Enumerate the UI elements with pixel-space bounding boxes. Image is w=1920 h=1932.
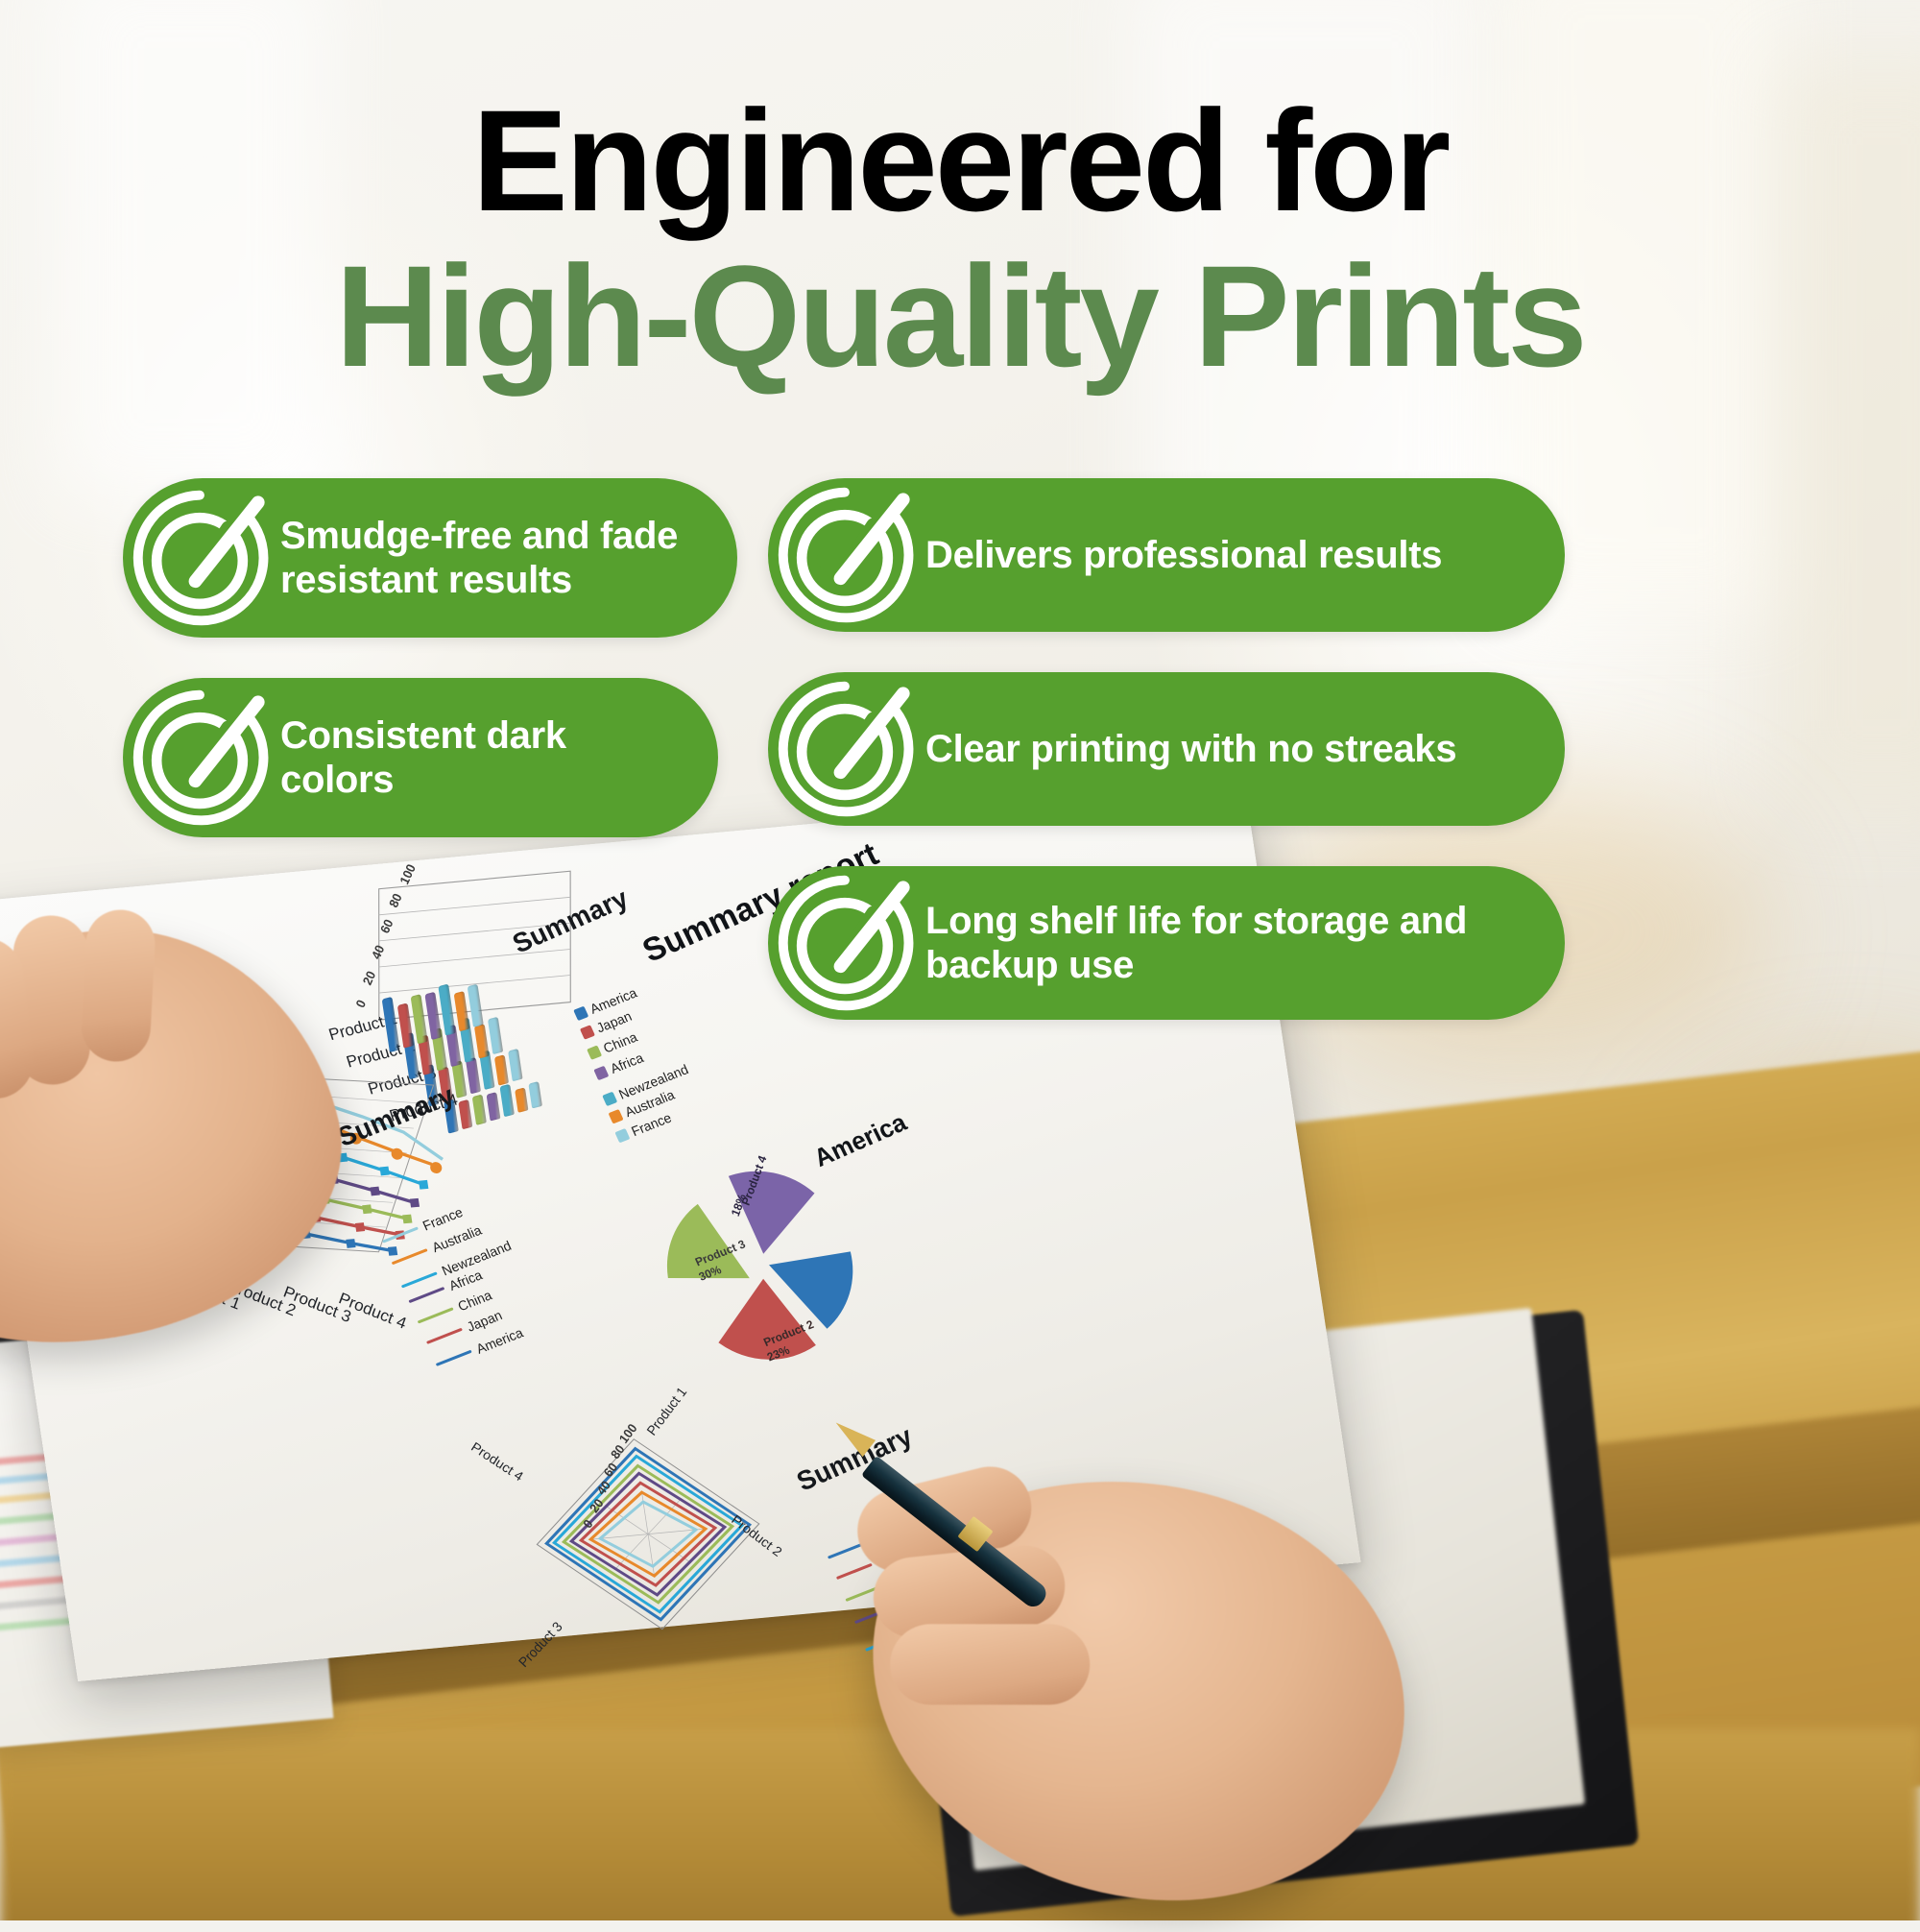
feature-pill[interactable]: Clear printing with no streaks <box>768 672 1565 826</box>
feature-pill-label: Smudge-free and fade resistant results <box>280 514 737 603</box>
feature-pill-label: Consistent dark colors <box>280 713 718 803</box>
feature-pill[interactable]: Long shelf life for storage and backup u… <box>768 866 1565 1020</box>
feature-pill[interactable]: Smudge-free and fade resistant results <box>123 478 737 638</box>
headline-line-2: High-Quality Prints <box>0 240 1920 393</box>
headline-line-1: Engineered for <box>0 88 1920 232</box>
check-circle-icon <box>127 685 273 831</box>
check-circle-icon <box>127 485 273 631</box>
feature-list-right: Delivers professional results Clear prin… <box>768 478 1565 1043</box>
feature-pill[interactable]: Consistent dark colors <box>123 678 718 837</box>
check-circle-icon <box>772 870 918 1016</box>
page-headline: Engineered for High-Quality Prints <box>0 88 1920 393</box>
feature-list-left: Smudge-free and fade resistant results C… <box>123 478 737 860</box>
feature-pill-label: Clear printing with no streaks <box>925 727 1489 771</box>
feature-pill-label: Delivers professional results <box>925 533 1475 577</box>
feature-pill-label: Long shelf life for storage and backup u… <box>925 899 1565 988</box>
feature-pill[interactable]: Delivers professional results <box>768 478 1565 632</box>
check-circle-icon <box>772 676 918 822</box>
check-circle-icon <box>772 482 918 628</box>
